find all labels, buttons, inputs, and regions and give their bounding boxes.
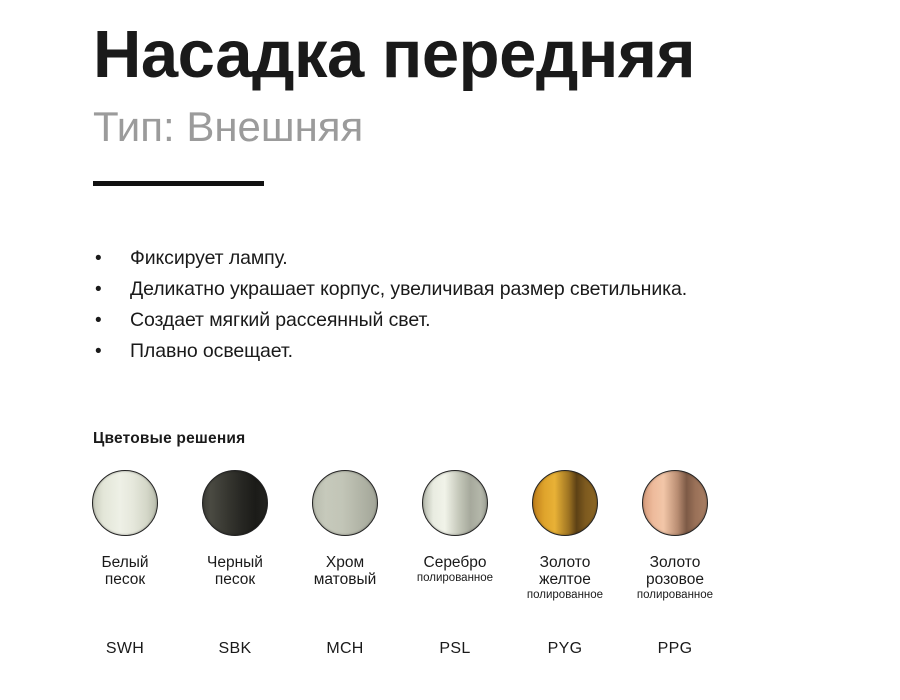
list-item-label: Фиксирует лампу. (130, 243, 288, 274)
color-swatch-mch[interactable]: Хром матовый MCH (290, 470, 400, 602)
swatch-disc-icon[interactable] (642, 470, 708, 536)
list-item: • Создает мягкий рассеянный свет. (93, 305, 853, 336)
product-spec-slide: Насадка передняя Тип: Внешняя • Фиксируе… (0, 0, 900, 700)
swatch-finish: полированное (417, 571, 493, 585)
swatch-name: Белый песок (101, 554, 148, 588)
swatch-name: Золото желтое (539, 554, 591, 588)
list-item-label: Создает мягкий рассеянный свет. (130, 305, 430, 336)
page-title: Насадка передняя (93, 21, 695, 88)
color-swatch-ppg[interactable]: Золото розовое полированное PPG (620, 470, 730, 602)
swatch-code: MCH (326, 640, 363, 658)
bullet-icon: • (93, 336, 130, 367)
swatch-disc-icon[interactable] (202, 470, 268, 536)
bullet-icon: • (93, 274, 130, 305)
swatch-code: SWH (106, 640, 144, 658)
list-item: • Фиксирует лампу. (93, 243, 853, 274)
list-item: • Деликатно украшает корпус, увеличивая … (93, 274, 853, 305)
bullet-icon: • (93, 243, 130, 274)
list-item: • Плавно освещает. (93, 336, 853, 367)
swatch-disc-icon[interactable] (532, 470, 598, 536)
color-swatch-swh[interactable]: Белый песок SWH (70, 470, 180, 602)
swatch-code: PYG (548, 640, 583, 658)
swatch-name: Золото розовое (646, 554, 704, 588)
swatch-disc-icon[interactable] (422, 470, 488, 536)
color-swatch-row: Белый песок SWH Черный песок SBK Хром ма… (70, 470, 830, 602)
swatch-finish: полированное (527, 588, 603, 602)
swatch-code: SBK (219, 640, 252, 658)
swatch-disc-icon[interactable] (312, 470, 378, 536)
list-item-label: Деликатно украшает корпус, увеличивая ра… (130, 274, 687, 305)
feature-list: • Фиксирует лампу. • Деликатно украшает … (93, 243, 853, 367)
swatch-name: Серебро (424, 554, 487, 571)
swatch-disc-icon[interactable] (92, 470, 158, 536)
color-swatch-sbk[interactable]: Черный песок SBK (180, 470, 290, 602)
page-subtitle: Тип: Внешняя (93, 106, 363, 148)
swatch-finish: полированное (637, 588, 713, 602)
color-swatch-pyg[interactable]: Золото желтое полированное PYG (510, 470, 620, 602)
color-options-heading: Цветовые решения (93, 430, 245, 448)
swatch-name: Черный песок (207, 554, 263, 588)
swatch-code: PPG (658, 640, 693, 658)
list-item-label: Плавно освещает. (130, 336, 293, 367)
title-divider (93, 181, 264, 186)
swatch-code: PSL (439, 640, 470, 658)
swatch-name: Хром матовый (314, 554, 377, 588)
color-swatch-psl[interactable]: Серебро полированное PSL (400, 470, 510, 602)
bullet-icon: • (93, 305, 130, 336)
